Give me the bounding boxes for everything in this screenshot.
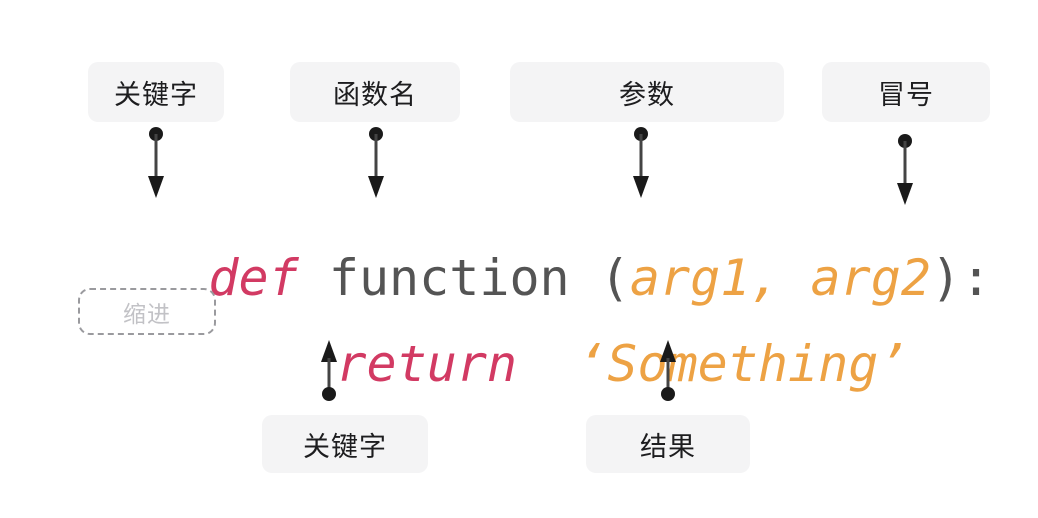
annotation-chip-keyword-return: 关键字 (262, 415, 428, 473)
token-keyword-return: return (336, 335, 517, 393)
connector-arrow-down-parameters (625, 126, 657, 200)
code-annotation-diagram: 关键字 函数名 参数 冒号 def function (arg1, arg2):… (0, 0, 1038, 518)
connector-arrow-down-colon (889, 133, 921, 207)
token-paren-close: ) (931, 249, 961, 307)
annotation-chip-result: 结果 (586, 415, 750, 473)
annotation-chip-label: 关键字 (114, 73, 198, 112)
annotation-chip-label: 参数 (619, 73, 675, 112)
annotation-chip-label: 关键字 (303, 425, 387, 464)
connector-arrow-down-function-name (360, 126, 392, 200)
annotation-chip-label: 结果 (640, 425, 696, 464)
annotation-chip-parameters: 参数 (510, 62, 784, 122)
token-colon: : (961, 249, 991, 307)
annotation-chip-keyword-def: 关键字 (88, 62, 224, 122)
annotation-chip-label: 冒号 (878, 73, 934, 112)
token-space-3 (517, 335, 577, 393)
connector-arrow-up-result (652, 340, 684, 402)
indent-placeholder-box: 缩进 (78, 288, 216, 335)
annotation-chip-function-name: 函数名 (290, 62, 460, 122)
annotation-chip-label: 函数名 (333, 73, 417, 112)
connector-arrow-up-keyword-return (313, 340, 345, 402)
annotation-chip-colon: 冒号 (822, 62, 990, 122)
token-string-something: ‘Something’ (577, 335, 908, 393)
connector-arrow-down-keyword-def (140, 126, 172, 200)
indent-placeholder-label: 缩进 (123, 295, 171, 329)
